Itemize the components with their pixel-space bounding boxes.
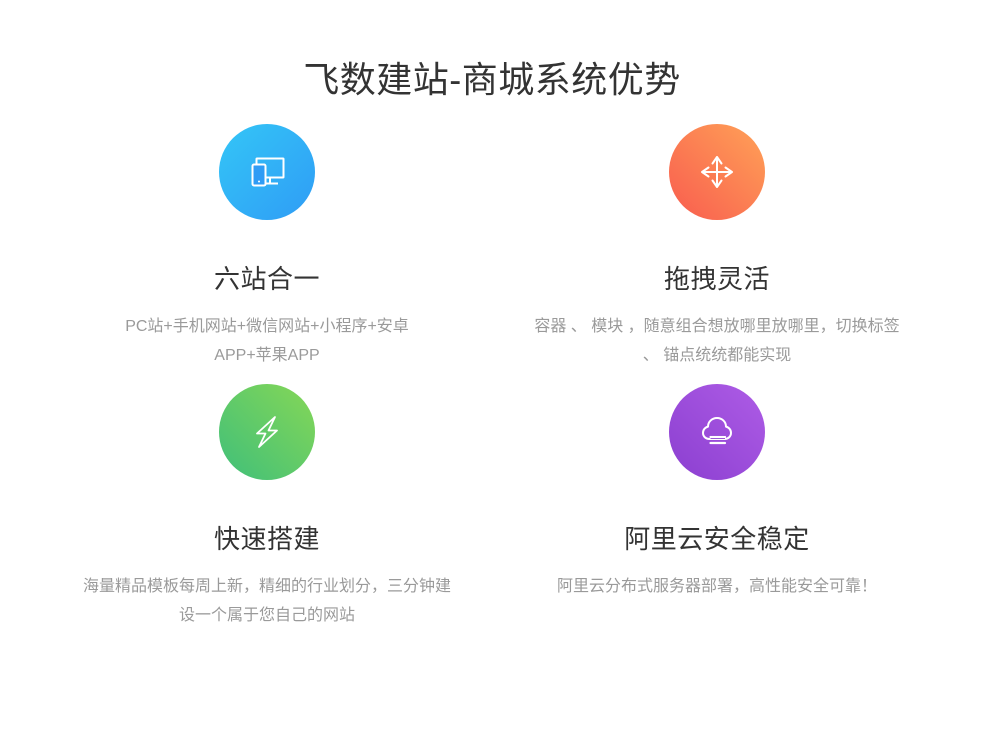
- feature-title: 拖拽灵活: [664, 220, 770, 296]
- page-title: 飞数建站-商城系统优势: [0, 0, 984, 102]
- feature-description: PC站+手机网站+微信网站+小程序+安卓APP+苹果APP: [107, 296, 427, 370]
- feature-description: 容器 、 模块 ，随意组合想放哪里放哪里，切换标签 、 锚点统统都能实现: [532, 296, 902, 370]
- feature-card-six-sites[interactable]: 六站合一 PC站+手机网站+微信网站+小程序+安卓APP+苹果APP: [42, 124, 492, 384]
- feature-title: 阿里云安全稳定: [624, 480, 810, 556]
- feature-card-aliyun-secure[interactable]: 阿里云安全稳定 阿里云分布式服务器部署，高性能安全可靠！: [492, 384, 942, 644]
- feature-card-drag-drop[interactable]: 拖拽灵活 容器 、 模块 ，随意组合想放哪里放哪里，切换标签 、 锚点统统都能实…: [492, 124, 942, 384]
- devices-icon: [219, 124, 315, 220]
- lightning-bolt-icon: [219, 384, 315, 480]
- cloud-icon: [669, 384, 765, 480]
- features-grid: 六站合一 PC站+手机网站+微信网站+小程序+安卓APP+苹果APP 拖拽灵活 …: [42, 102, 942, 644]
- feature-card-fast-build[interactable]: 快速搭建 海量精品模板每周上新，精细的行业划分，三分钟建设一个属于您自己的网站: [42, 384, 492, 644]
- move-arrows-icon: [669, 124, 765, 220]
- feature-title: 六站合一: [214, 220, 320, 296]
- feature-description: 海量精品模板每周上新，精细的行业划分，三分钟建设一个属于您自己的网站: [78, 556, 456, 630]
- feature-description: 阿里云分布式服务器部署，高性能安全可靠！: [557, 556, 877, 601]
- feature-title: 快速搭建: [214, 480, 320, 556]
- feature-highlights-page: 飞数建站-商城系统优势 六站合一 PC站+手机网站+微信网站+小程序+安卓APP…: [0, 0, 984, 752]
